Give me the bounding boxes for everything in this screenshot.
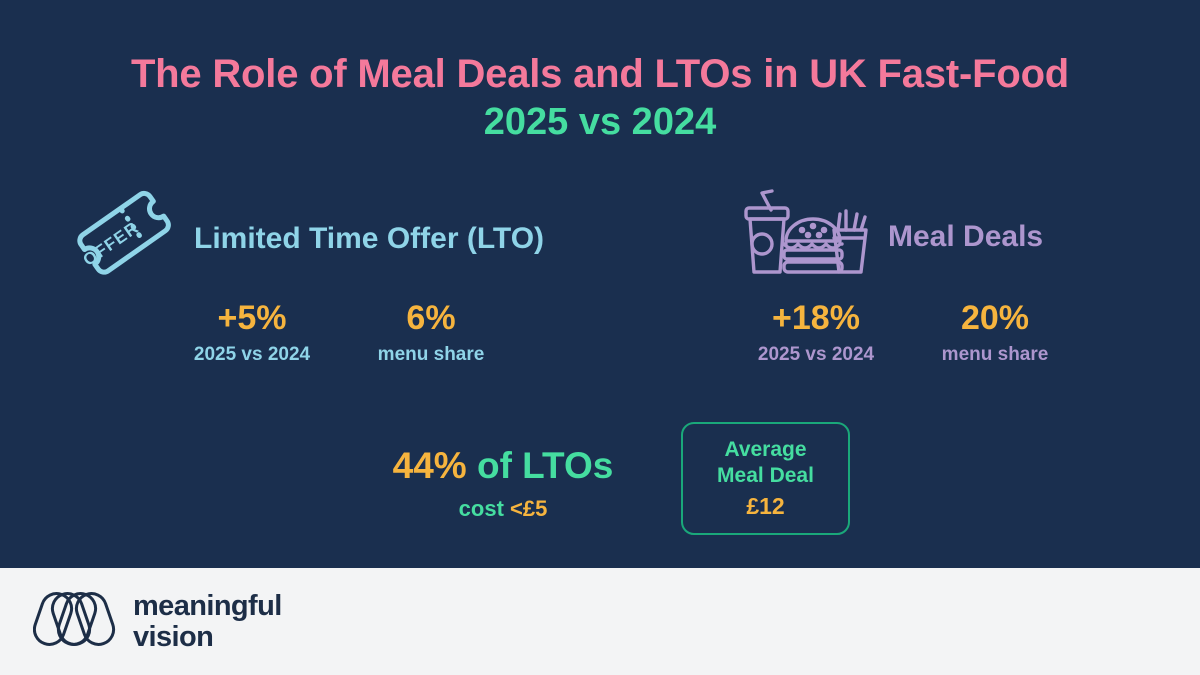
brand-logo: meaningful vision: [33, 590, 282, 653]
average-card-amount: £12: [746, 492, 784, 520]
stat-label: 2025 vs 2024: [740, 344, 892, 366]
infographic-canvas: The Role of Meal Deals and LTOs in UK Fa…: [0, 0, 1200, 675]
stat-value: 6%: [364, 300, 498, 337]
section-header-lto: OFFER Limited Time Offer (LTO): [76, 186, 544, 291]
stat-lto-change: +5% 2025 vs 2024: [176, 300, 328, 366]
stat-label: 2025 vs 2024: [176, 344, 328, 366]
stat-value: +18%: [740, 300, 892, 337]
page-title: The Role of Meal Deals and LTOs in UK Fa…: [0, 52, 1200, 97]
stat-value: 20%: [928, 300, 1062, 337]
stat-label: menu share: [928, 344, 1062, 366]
average-card-line2: Meal Deal: [717, 463, 814, 489]
stat-value: +5%: [176, 300, 328, 337]
svg-text:OFFER: OFFER: [80, 218, 143, 270]
meaningful-vision-monogram-icon: [33, 590, 117, 653]
ticket-offer-icon: OFFER: [76, 186, 184, 291]
stat-lto-cost-headline: 44% of LTOs: [378, 446, 628, 487]
meal-combo-icon: [738, 186, 878, 287]
stat-lto-cost-number: 44%: [393, 445, 467, 486]
stat-lto-menu-share: 6% menu share: [364, 300, 498, 366]
stat-meal-deals-change: +18% 2025 vs 2024: [740, 300, 892, 366]
stat-label: menu share: [364, 344, 498, 366]
stat-lto-cost-sub-prefix: cost: [459, 496, 510, 521]
average-card-line1: Average: [724, 437, 806, 463]
stat-meal-deals-menu-share: 20% menu share: [928, 300, 1062, 366]
stats-row-meal-deals: +18% 2025 vs 2024 20% menu share: [740, 300, 1062, 366]
title-block: The Role of Meal Deals and LTOs in UK Fa…: [0, 52, 1200, 143]
stats-row-lto: +5% 2025 vs 2024 6% menu share: [176, 300, 498, 366]
brand-wordmark: meaningful vision: [133, 592, 282, 652]
stat-lto-cost-sub-value: <£5: [510, 496, 547, 521]
section-title-lto: Limited Time Offer (LTO): [194, 222, 544, 256]
brand-wordmark-line2: vision: [133, 623, 282, 652]
stat-lto-cost: 44% of LTOs cost <£5: [378, 446, 628, 522]
stat-lto-cost-sub: cost <£5: [378, 496, 628, 522]
stat-lto-cost-text: of LTOs: [467, 445, 614, 486]
footer-bar: meaningful vision: [0, 568, 1200, 675]
page-subtitle: 2025 vs 2024: [0, 101, 1200, 144]
section-title-meal-deals: Meal Deals: [888, 220, 1043, 254]
section-header-meal-deals: Meal Deals: [738, 186, 1043, 287]
brand-wordmark-line1: meaningful: [133, 592, 282, 621]
average-meal-deal-card: Average Meal Deal £12: [681, 422, 850, 535]
